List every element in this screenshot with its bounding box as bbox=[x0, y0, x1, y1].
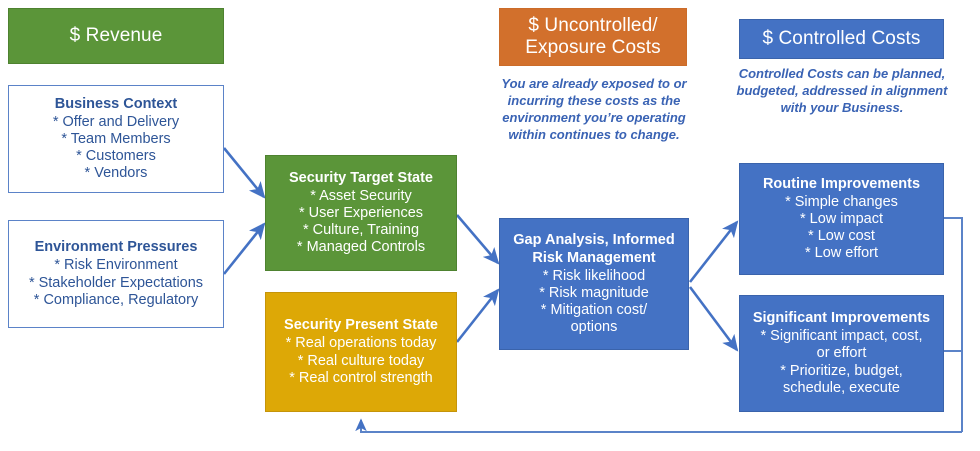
card-environment-pressures-line-3: * Compliance, Regulatory bbox=[34, 292, 198, 309]
card-business-context-line-1: * Offer and Delivery bbox=[53, 114, 179, 131]
card-gap-analysis-title-line-1: Gap Analysis, Informed bbox=[513, 232, 674, 249]
card-significant-improvements-line-3: * Prioritize, budget, bbox=[780, 363, 903, 380]
arrow-gap-analysis-to-significant-improvements bbox=[690, 287, 737, 350]
header-uncontrolled-costs-line-1: $ Uncontrolled/ bbox=[528, 15, 657, 37]
card-security-target-state-title: Security Target State bbox=[289, 170, 433, 187]
card-gap-analysis-line-2: * Risk magnitude bbox=[539, 285, 649, 302]
arrow-feedback-loop-to-present-state bbox=[361, 420, 962, 432]
connector-routine-right-stub bbox=[944, 218, 962, 432]
header-controlled-costs: $ Controlled Costs bbox=[739, 19, 944, 59]
card-gap-analysis-line-1: * Risk likelihood bbox=[543, 268, 645, 285]
header-controlled-costs-label: $ Controlled Costs bbox=[762, 28, 920, 50]
header-uncontrolled-costs-line-2: Exposure Costs bbox=[525, 37, 661, 59]
card-business-context: Business Context * Offer and Delivery * … bbox=[8, 85, 224, 193]
diagram-canvas: $ Revenue Business Context * Offer and D… bbox=[0, 0, 980, 451]
card-business-context-line-4: * Vendors bbox=[85, 165, 148, 182]
card-routine-improvements-line-1: * Simple changes bbox=[785, 194, 898, 211]
card-gap-analysis-title-line-2: Risk Management bbox=[532, 250, 655, 267]
card-security-target-state-line-3: * Culture, Training bbox=[303, 222, 419, 239]
card-security-present-state: Security Present State * Real operations… bbox=[265, 292, 457, 412]
card-routine-improvements-line-4: * Low effort bbox=[805, 245, 878, 262]
card-security-present-state-line-2: * Real culture today bbox=[298, 353, 425, 370]
card-business-context-title: Business Context bbox=[55, 96, 177, 113]
card-significant-improvements-line-4: schedule, execute bbox=[783, 380, 900, 397]
arrow-business-context-to-target-state bbox=[224, 148, 264, 197]
card-security-target-state: Security Target State * Asset Security *… bbox=[265, 155, 457, 271]
note-controlled-costs: Controlled Costs can be planned, budgete… bbox=[728, 66, 956, 117]
card-routine-improvements-title: Routine Improvements bbox=[763, 176, 920, 193]
header-revenue: $ Revenue bbox=[8, 8, 224, 64]
card-environment-pressures-line-2: * Stakeholder Expectations bbox=[29, 275, 203, 292]
card-environment-pressures-title: Environment Pressures bbox=[35, 239, 198, 256]
card-routine-improvements-line-2: * Low impact bbox=[800, 211, 883, 228]
arrow-present-state-to-gap-analysis bbox=[457, 290, 498, 342]
card-gap-analysis-line-3: * Mitigation cost/ bbox=[541, 302, 647, 319]
card-gap-analysis-line-4: options bbox=[571, 319, 618, 336]
header-revenue-label: $ Revenue bbox=[70, 25, 163, 47]
card-security-present-state-title: Security Present State bbox=[284, 317, 438, 334]
card-business-context-line-3: * Customers bbox=[76, 148, 156, 165]
card-environment-pressures: Environment Pressures * Risk Environment… bbox=[8, 220, 224, 328]
card-significant-improvements: Significant Improvements * Significant i… bbox=[739, 295, 944, 412]
card-security-target-state-line-2: * User Experiences bbox=[299, 205, 423, 222]
card-business-context-line-2: * Team Members bbox=[61, 131, 170, 148]
card-security-present-state-line-1: * Real operations today bbox=[286, 335, 437, 352]
header-uncontrolled-costs: $ Uncontrolled/ Exposure Costs bbox=[499, 8, 687, 66]
card-significant-improvements-title: Significant Improvements bbox=[753, 310, 930, 327]
card-security-target-state-line-1: * Asset Security bbox=[310, 188, 412, 205]
card-security-present-state-line-3: * Real control strength bbox=[289, 370, 432, 387]
card-routine-improvements: Routine Improvements * Simple changes * … bbox=[739, 163, 944, 275]
arrow-gap-analysis-to-routine-improvements bbox=[690, 222, 737, 282]
card-security-target-state-line-4: * Managed Controls bbox=[297, 239, 425, 256]
card-routine-improvements-line-3: * Low cost bbox=[808, 228, 875, 245]
arrow-environment-pressures-to-target-state bbox=[224, 224, 264, 274]
arrow-target-state-to-gap-analysis bbox=[457, 215, 498, 263]
card-gap-analysis: Gap Analysis, Informed Risk Management *… bbox=[499, 218, 689, 350]
card-environment-pressures-line-1: * Risk Environment bbox=[54, 257, 177, 274]
card-significant-improvements-line-1: * Significant impact, cost, bbox=[761, 328, 923, 345]
card-significant-improvements-line-2: or effort bbox=[817, 345, 867, 362]
note-uncontrolled-costs: You are already exposed to or incurring … bbox=[494, 76, 694, 144]
